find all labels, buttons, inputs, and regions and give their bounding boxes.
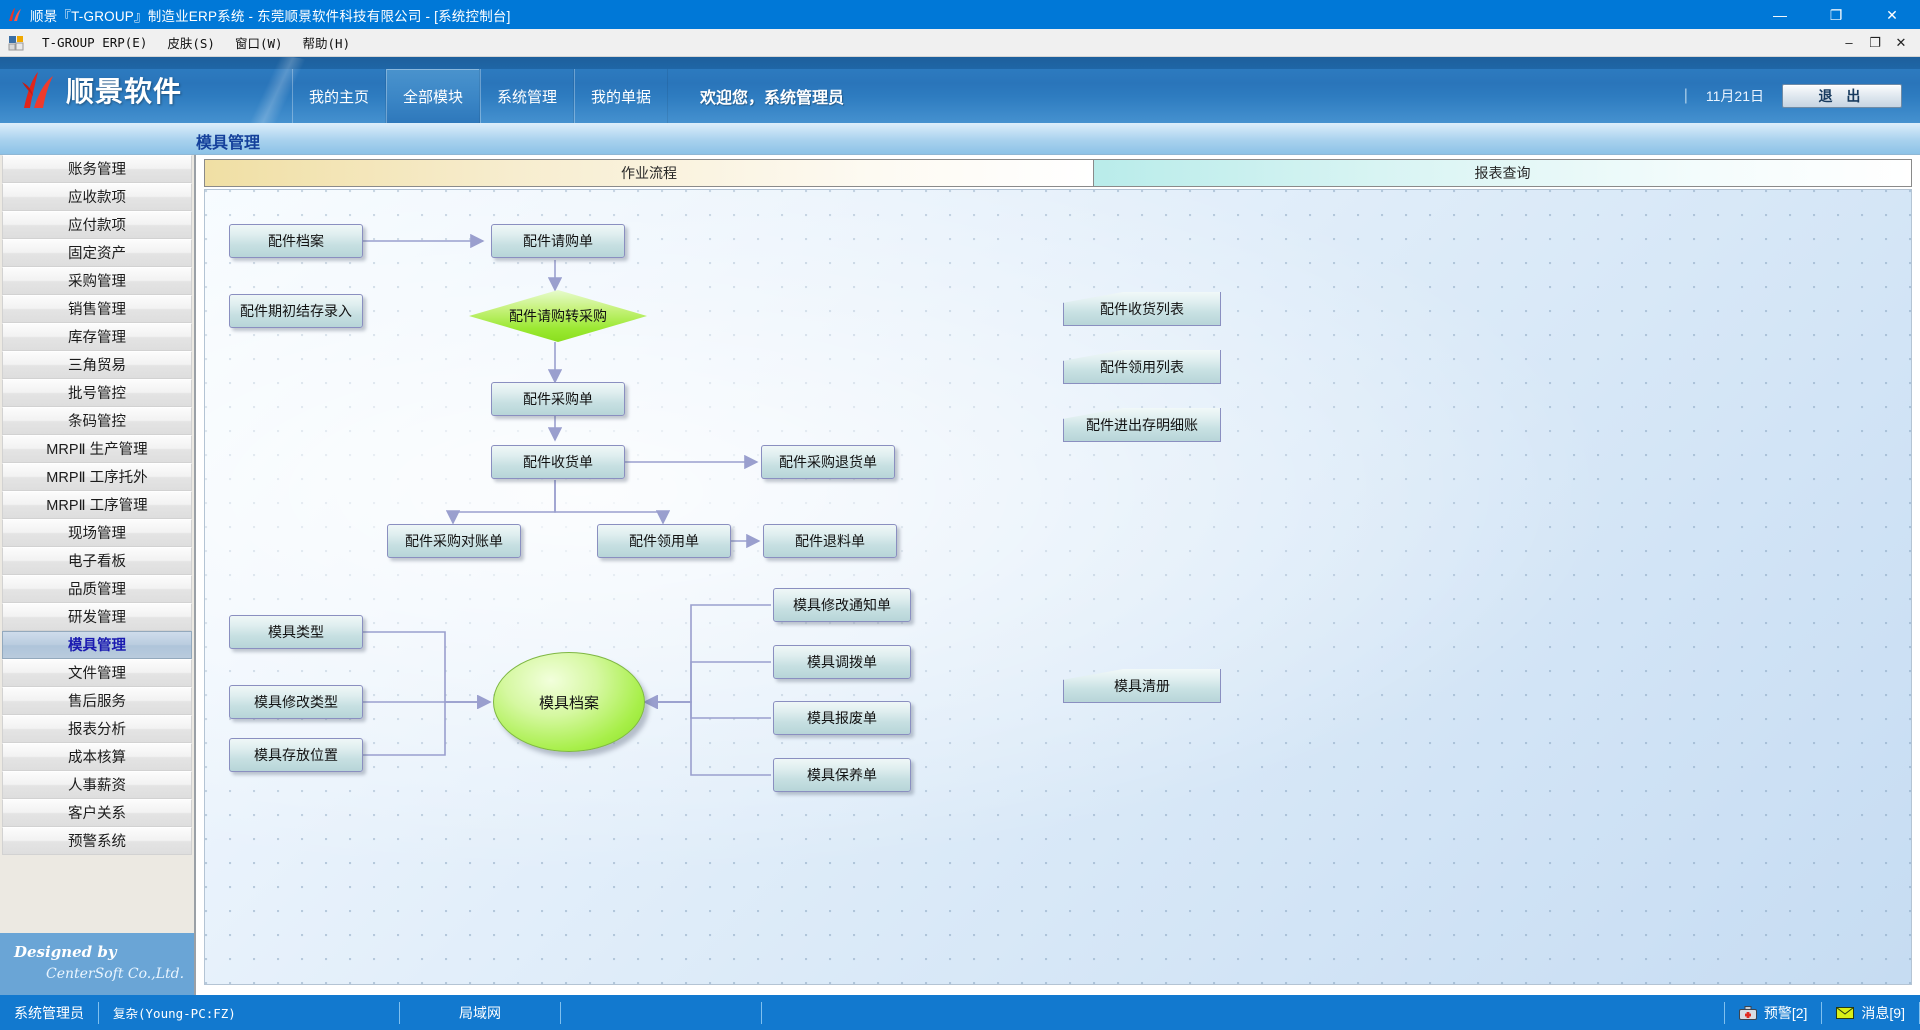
window-title: 顺景『T-GROUP』制造业ERP系统 - 东莞顺景软件科技有限公司 - [系统…: [30, 5, 511, 25]
flow-node-mold-maintenance[interactable]: 模具保养单: [773, 758, 911, 792]
logout-button[interactable]: 退 出: [1782, 84, 1902, 108]
menu-item-help[interactable]: 帮助(H): [293, 31, 361, 54]
sidebar-item-documents[interactable]: 文件管理: [2, 659, 192, 687]
status-alert-button[interactable]: 预警[2]: [1725, 995, 1822, 1030]
sidebar-item-inventory[interactable]: 库存管理: [2, 323, 192, 351]
window-controls: — ❐ ✕: [1752, 0, 1920, 29]
nav-tab-my-documents[interactable]: 我的单据: [574, 69, 668, 123]
nav-tab-system-admin[interactable]: 系统管理: [480, 69, 574, 123]
status-message-button[interactable]: 消息[9]: [1822, 995, 1919, 1030]
flow-node-mold-transfer[interactable]: 模具调拨单: [773, 645, 911, 679]
module-sidebar: 账务管理 应收款项 应付款项 固定资产 采购管理 销售管理 库存管理 三角贸易 …: [0, 155, 196, 995]
window-titlebar: 顺景『T-GROUP』制造业ERP系统 - 东莞顺景软件科技有限公司 - [系统…: [0, 0, 1920, 29]
sidebar-item-hr-payroll[interactable]: 人事薪资: [2, 771, 192, 799]
main-content: 作业流程 报表查询: [198, 155, 1920, 995]
sidebar-item-mrp2-production[interactable]: MRPⅡ 生产管理: [2, 435, 192, 463]
sidebar-item-lot-control[interactable]: 批号管控: [2, 379, 192, 407]
report-node-parts-inout-ledger[interactable]: 配件进出存明细账: [1063, 408, 1221, 442]
window-restore-button[interactable]: ❐: [1808, 0, 1864, 29]
report-node-label: 配件领用列表: [1100, 357, 1184, 377]
flow-node-parts-issue[interactable]: 配件领用单: [597, 524, 731, 558]
report-node-parts-receipt-list[interactable]: 配件收货列表: [1063, 292, 1221, 326]
report-node-label: 配件收货列表: [1100, 299, 1184, 319]
flow-node-mold-master[interactable]: 模具档案: [493, 652, 645, 752]
sidebar-item-alert-system[interactable]: 预警系统: [2, 827, 192, 855]
flow-node-parts-material-return[interactable]: 配件退料单: [763, 524, 897, 558]
flow-connectors: [205, 190, 1911, 984]
mdi-close-button[interactable]: ✕: [1888, 31, 1914, 55]
report-node-label: 配件进出存明细账: [1086, 415, 1198, 435]
header-separator: |: [1684, 87, 1688, 105]
status-alert-label: 预警[2]: [1764, 1003, 1808, 1023]
nav-tab-home[interactable]: 我的主页: [292, 69, 386, 123]
header-date: 11月21日: [1706, 86, 1764, 106]
content-tabstrip: 作业流程 报表查询: [204, 159, 1912, 187]
sidebar-item-quality[interactable]: 品质管理: [2, 575, 192, 603]
status-message-label: 消息[9]: [1861, 1003, 1905, 1023]
sidebar-item-mrp2-outsourcing[interactable]: MRPⅡ 工序托外: [2, 463, 192, 491]
sidebar-item-receivables[interactable]: 应收款项: [2, 183, 192, 211]
report-node-parts-issue-list[interactable]: 配件领用列表: [1063, 350, 1221, 384]
status-database: 复杂(Young-PC:FZ): [99, 995, 399, 1030]
status-user: 系统管理员: [0, 995, 98, 1030]
sidebar-item-crm[interactable]: 客户关系: [2, 799, 192, 827]
report-node-mold-register[interactable]: 模具清册: [1063, 669, 1221, 703]
sidebar-item-kanban[interactable]: 电子看板: [2, 547, 192, 575]
envelope-icon: [1836, 1006, 1854, 1020]
sidebar-item-mold-management[interactable]: 模具管理: [2, 631, 192, 659]
sidebar-item-list: 账务管理 应收款项 应付款项 固定资产 采购管理 销售管理 库存管理 三角贸易 …: [2, 155, 192, 855]
page-title-bar: 模具管理: [0, 123, 1920, 155]
status-network: 局域网: [400, 995, 560, 1030]
sidebar-item-after-sales[interactable]: 售后服务: [2, 687, 192, 715]
designed-by-label: Designed by: [14, 943, 117, 961]
flow-node-parts-purchase-order[interactable]: 配件采购单: [491, 382, 625, 416]
report-node-label: 模具清册: [1114, 676, 1170, 696]
tab-report-query[interactable]: 报表查询: [1093, 160, 1911, 186]
mdi-window-controls: – ❐ ✕: [1836, 31, 1920, 55]
sidebar-item-rnd[interactable]: 研发管理: [2, 603, 192, 631]
flow-node-requisition-to-purchase[interactable]: 配件请购转采购: [469, 290, 647, 342]
page-title: 模具管理: [196, 129, 260, 153]
flow-node-mold-modify-type[interactable]: 模具修改类型: [229, 685, 363, 719]
window-minimize-button[interactable]: —: [1752, 0, 1808, 29]
menu-item-erp[interactable]: T-GROUP ERP(E): [32, 33, 157, 52]
header-right-group: | 11月21日 退 出: [1684, 69, 1902, 123]
brand-name: 顺景软件: [66, 70, 182, 110]
flow-node-parts-purchase-return[interactable]: 配件采购退货单: [761, 445, 895, 479]
flow-node-label: 配件请购转采购: [509, 306, 607, 326]
app-header: 顺景软件 我的主页 全部模块 系统管理 我的单据 欢迎您，系统管理员 | 11月…: [0, 57, 1920, 123]
window-close-button[interactable]: ✕: [1864, 0, 1920, 29]
alert-icon: [1739, 1006, 1757, 1020]
flame-logo-icon: [16, 68, 60, 112]
tab-workflow[interactable]: 作业流程: [205, 160, 1093, 186]
sidebar-item-purchasing[interactable]: 采购管理: [2, 267, 192, 295]
sidebar-item-cost-accounting[interactable]: 成本核算: [2, 743, 192, 771]
flow-node-mold-type[interactable]: 模具类型: [229, 615, 363, 649]
flow-node-mold-scrap[interactable]: 模具报废单: [773, 701, 911, 735]
brand-logo: 顺景软件: [0, 57, 290, 123]
mdi-restore-button[interactable]: ❐: [1862, 31, 1888, 55]
sidebar-footer-credit: Designed by CenterSoft Co.,Ltd.: [0, 933, 194, 995]
menu-item-skin[interactable]: 皮肤(S): [157, 31, 225, 54]
flow-node-parts-receipt[interactable]: 配件收货单: [491, 445, 625, 479]
app-logo-icon: [6, 6, 24, 24]
flow-node-parts-purchase-reconciliation[interactable]: 配件采购对账单: [387, 524, 521, 558]
sidebar-item-payables[interactable]: 应付款项: [2, 211, 192, 239]
flow-node-parts-requisition[interactable]: 配件请购单: [491, 224, 625, 258]
sidebar-item-accounting[interactable]: 账务管理: [2, 155, 192, 183]
status-blank-2: [762, 995, 882, 1030]
flow-node-mold-modify-notice[interactable]: 模具修改通知单: [773, 588, 911, 622]
mdi-minimize-button[interactable]: –: [1836, 31, 1862, 55]
sidebar-item-mrp2-process[interactable]: MRPⅡ 工序管理: [2, 491, 192, 519]
mdi-app-icon: [8, 35, 24, 51]
flow-node-parts-opening-balance[interactable]: 配件期初结存录入: [229, 294, 363, 328]
nav-tab-all-modules[interactable]: 全部模块: [386, 69, 480, 123]
sidebar-item-fixed-assets[interactable]: 固定资产: [2, 239, 192, 267]
flow-node-parts-master[interactable]: 配件档案: [229, 224, 363, 258]
status-blank-1: [561, 995, 761, 1030]
application-menubar: T-GROUP ERP(E) 皮肤(S) 窗口(W) 帮助(H) – ❐ ✕: [0, 29, 1920, 57]
sidebar-item-sales[interactable]: 销售管理: [2, 295, 192, 323]
sidebar-item-report-analysis[interactable]: 报表分析: [2, 715, 192, 743]
status-bar: 系统管理员 复杂(Young-PC:FZ) 局域网 预警[2]: [0, 995, 1920, 1030]
flow-node-mold-storage-location[interactable]: 模具存放位置: [229, 738, 363, 772]
menu-item-window[interactable]: 窗口(W): [225, 31, 293, 54]
designer-company-label: CenterSoft Co.,Ltd.: [46, 966, 184, 982]
status-right-group: 预警[2] 消息[9]: [1724, 995, 1920, 1030]
sidebar-item-shopfloor[interactable]: 现场管理: [2, 519, 192, 547]
welcome-message: 欢迎您，系统管理员: [700, 69, 844, 123]
workflow-canvas: 配件档案 配件请购单 配件期初结存录入 配件请购转采购 配件采购单 配件收货单 …: [204, 189, 1912, 985]
sidebar-item-barcode-control[interactable]: 条码管控: [2, 407, 192, 435]
header-nav-tabs: 我的主页 全部模块 系统管理 我的单据: [292, 69, 668, 123]
sidebar-item-triangular-trade[interactable]: 三角贸易: [2, 351, 192, 379]
